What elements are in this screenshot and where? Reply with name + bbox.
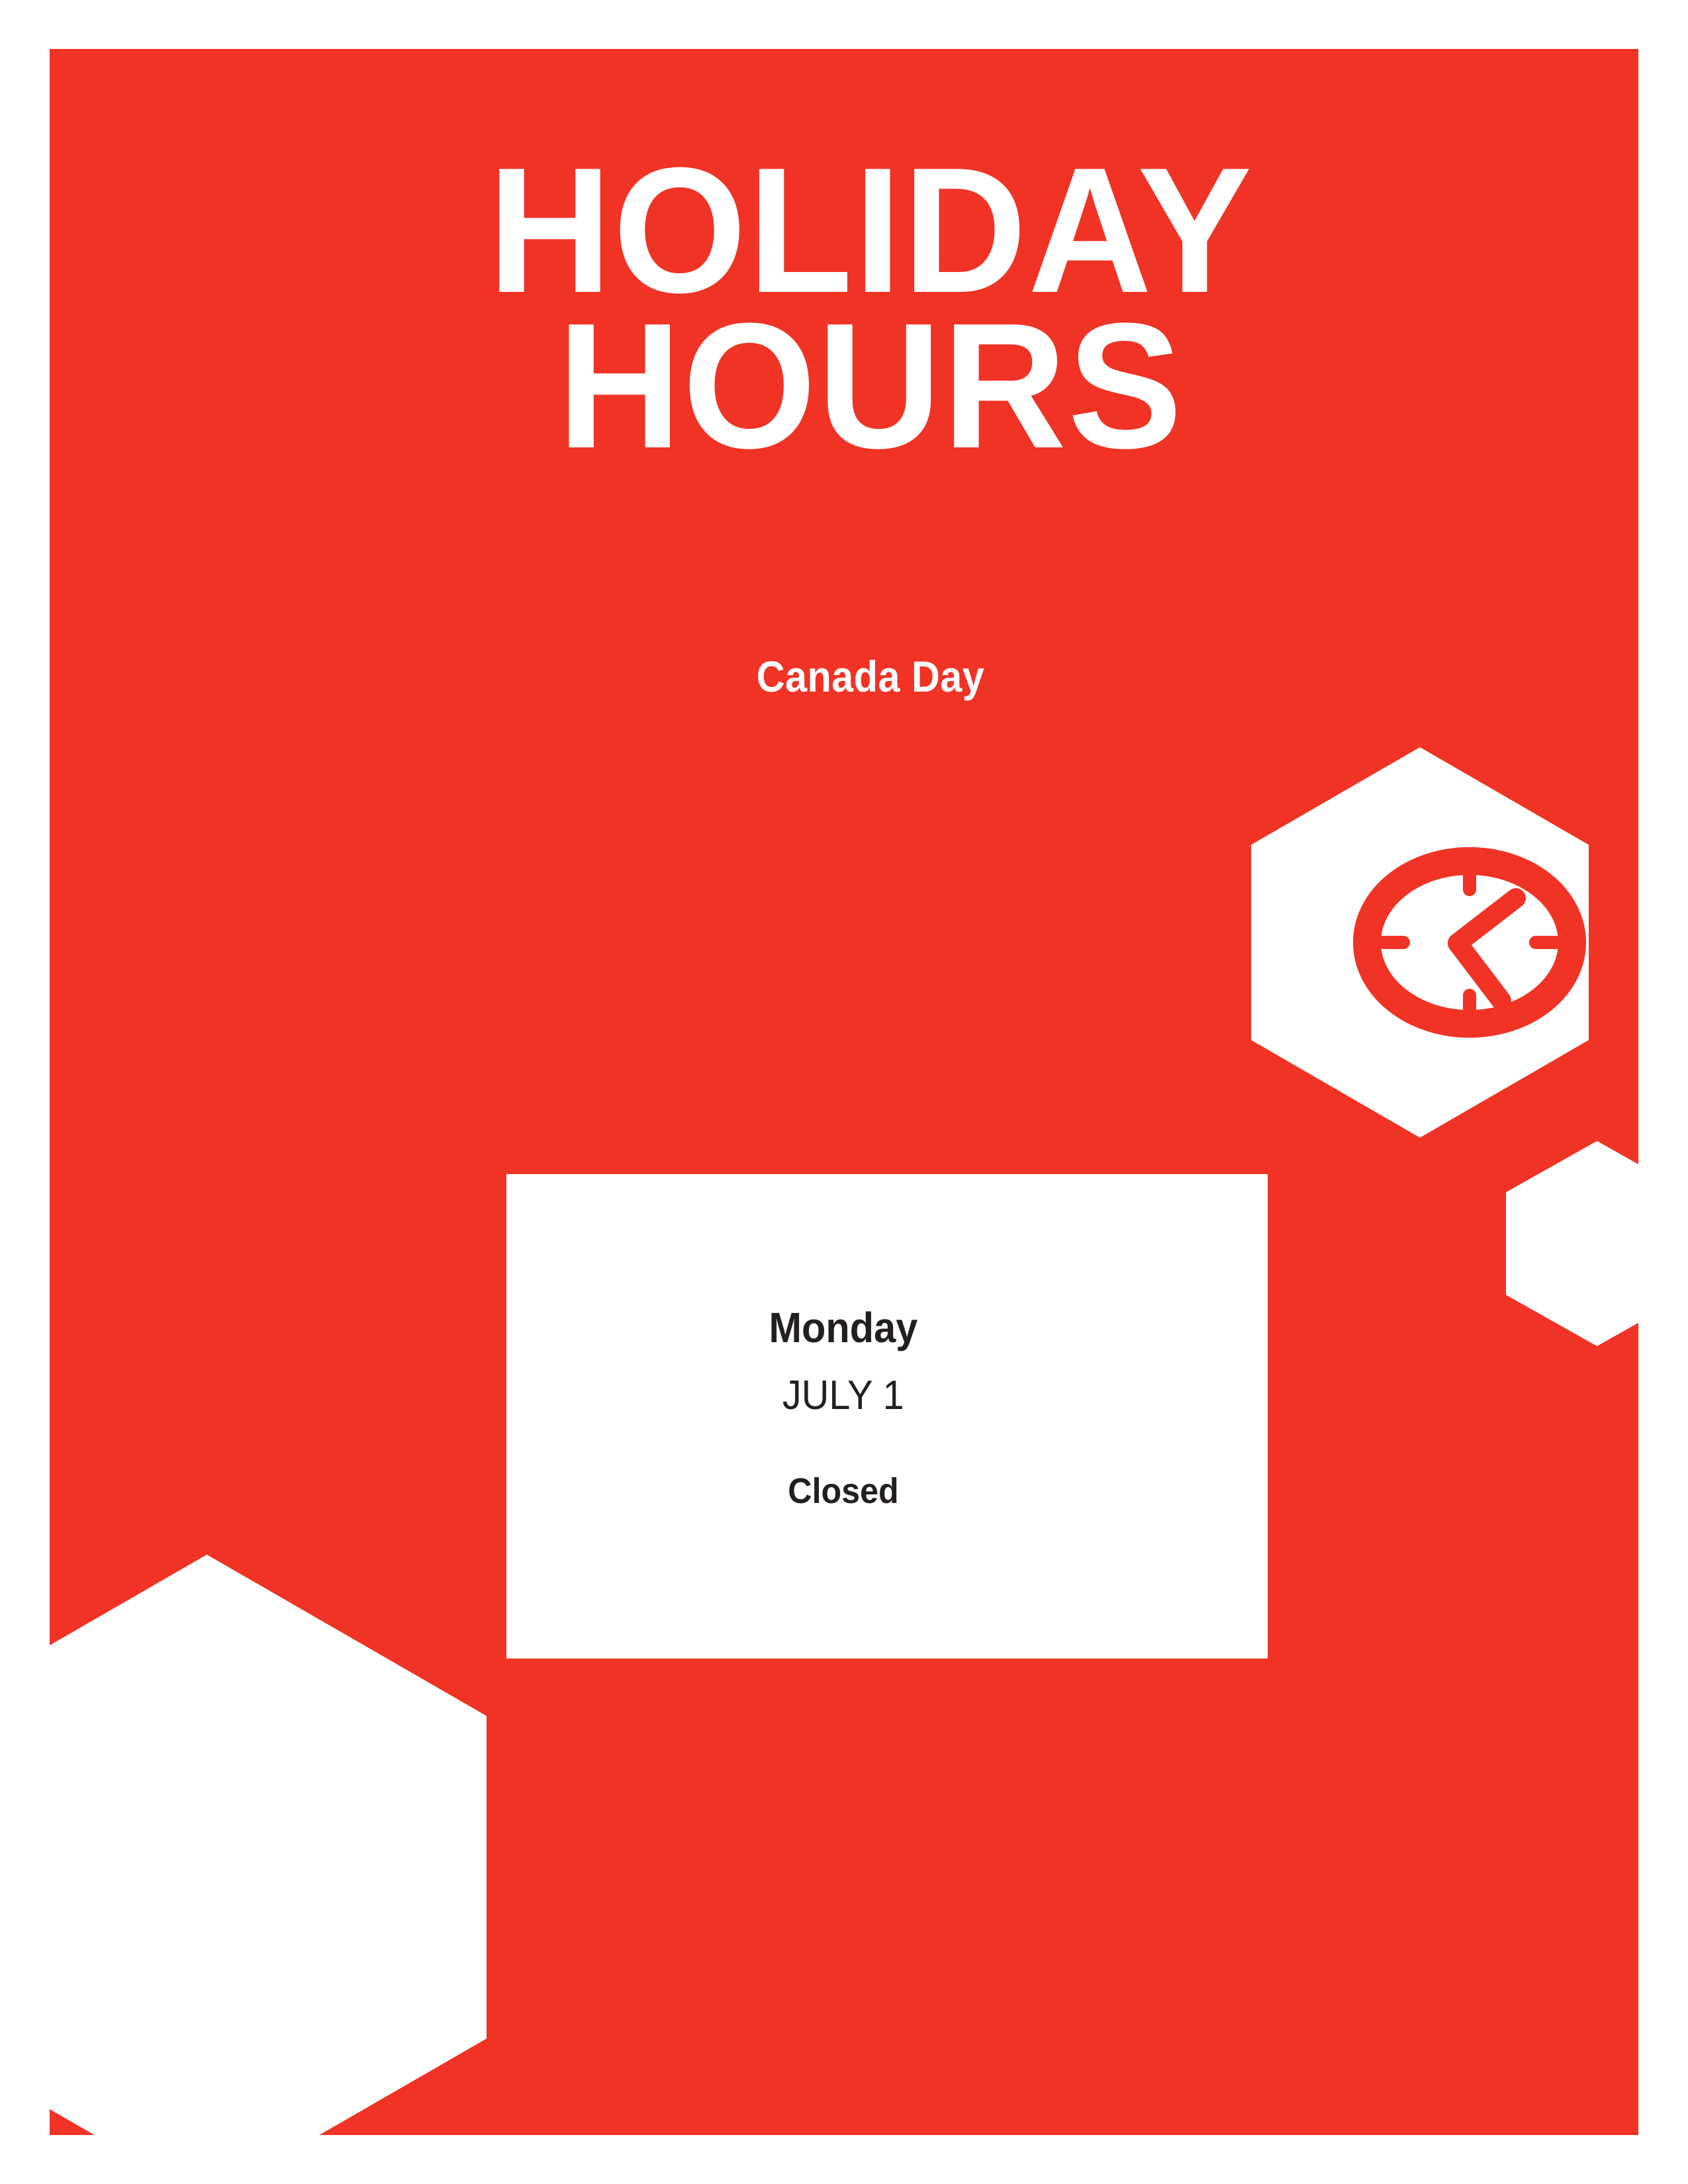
red-background-panel: HOLIDAY HOURS Canada Day Monday JULY 1 C… — [50, 49, 1638, 2135]
card-status-label: Closed — [788, 1473, 898, 1509]
holiday-hours-poster: HOLIDAY HOURS Canada Day Monday JULY 1 C… — [0, 0, 1688, 2184]
headline-line-2: HOURS — [355, 317, 1385, 457]
clock-icon — [1331, 833, 1609, 1052]
hexagon-shape-large — [50, 1555, 487, 2135]
headline-line-1: HOLIDAY — [355, 161, 1385, 301]
hexagon-shape-small — [1506, 1141, 1638, 1346]
card-day-label: Monday — [769, 1306, 918, 1349]
card-date-label: JULY 1 — [782, 1375, 904, 1416]
hours-info-card: Monday JULY 1 Closed — [506, 1174, 1268, 1659]
poster-subtitle: Canada Day — [388, 651, 1353, 702]
poster-headline: HOLIDAY HOURS — [334, 161, 1407, 456]
